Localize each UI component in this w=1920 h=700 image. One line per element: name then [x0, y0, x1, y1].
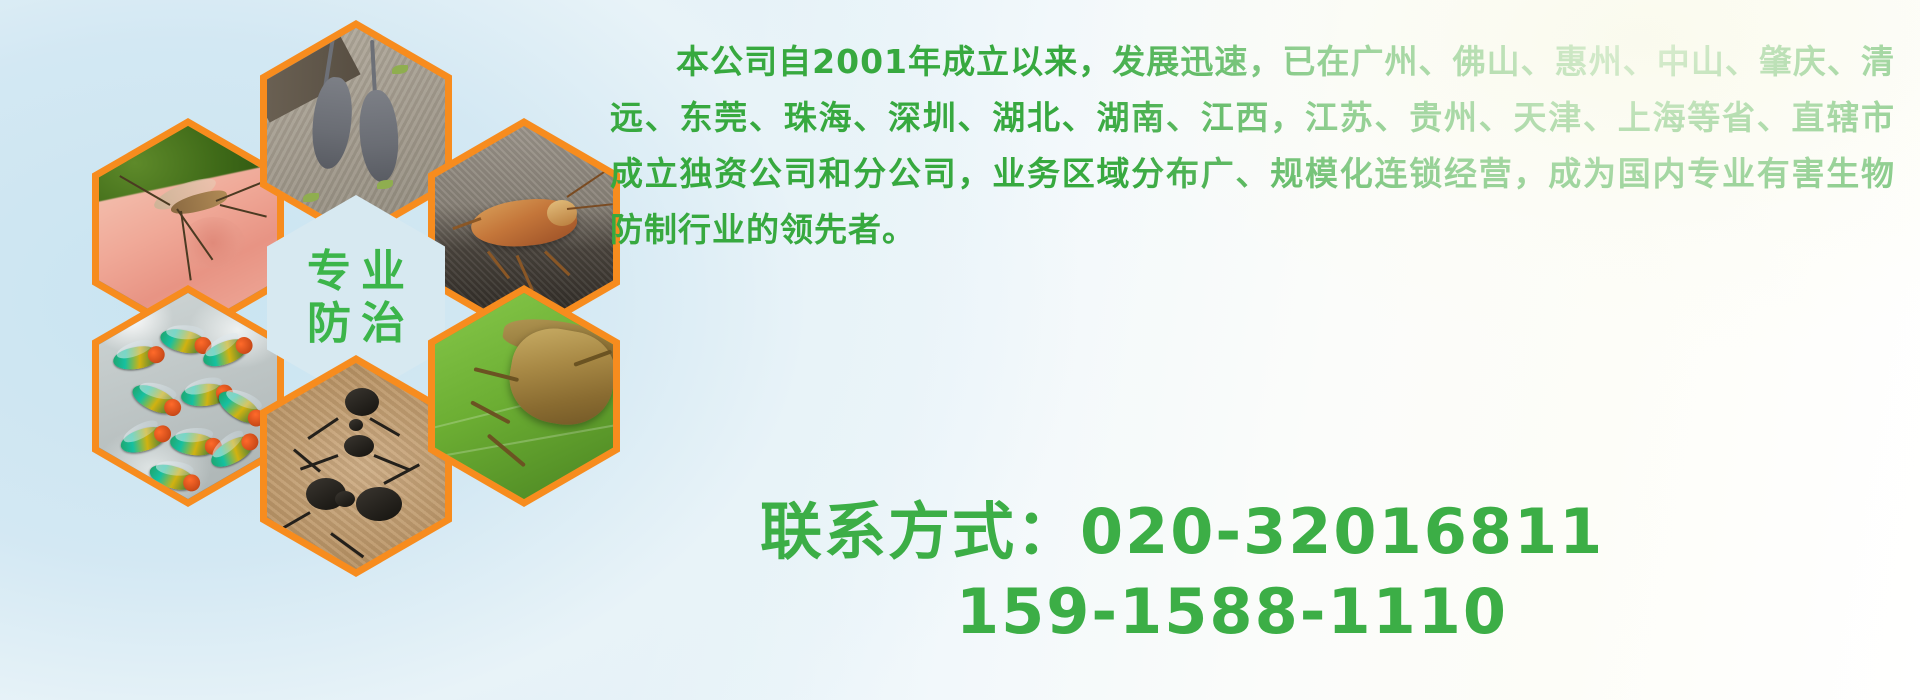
intro-copy-block: 本公司自2001年成立以来，发展迅速，已在广州、佛山、惠州、中山、肇庆、清远、东…	[610, 34, 1895, 258]
fly-photo	[99, 293, 277, 499]
intro-paragraph: 本公司自2001年成立以来，发展迅速，已在广州、佛山、惠州、中山、肇庆、清远、东…	[610, 34, 1895, 258]
hex-cell-fly[interactable]	[92, 285, 284, 507]
hex-cell-ant[interactable]	[260, 355, 452, 577]
contact-block: 联系方式：020-32016811 159-1588-1110	[760, 492, 1890, 652]
slogan-line-1: 专业	[297, 249, 415, 295]
hex-cell-stinkbug[interactable]	[428, 285, 620, 507]
contact-line-primary[interactable]: 联系方式：020-32016811	[760, 492, 1890, 572]
contact-line-secondary[interactable]: 159-1588-1110	[760, 572, 1890, 652]
ant-photo	[267, 363, 445, 569]
promo-banner: 专业 防治	[0, 0, 1920, 700]
honeycomb-collage: 专业 防治	[92, 10, 592, 570]
slogan-line-2: 防治	[297, 301, 415, 347]
stinkbug-photo	[435, 293, 613, 499]
intro-paragraph-text: 本公司自2001年成立以来，发展迅速，已在广州、佛山、惠州、中山、肇庆、清远、东…	[610, 42, 1895, 249]
